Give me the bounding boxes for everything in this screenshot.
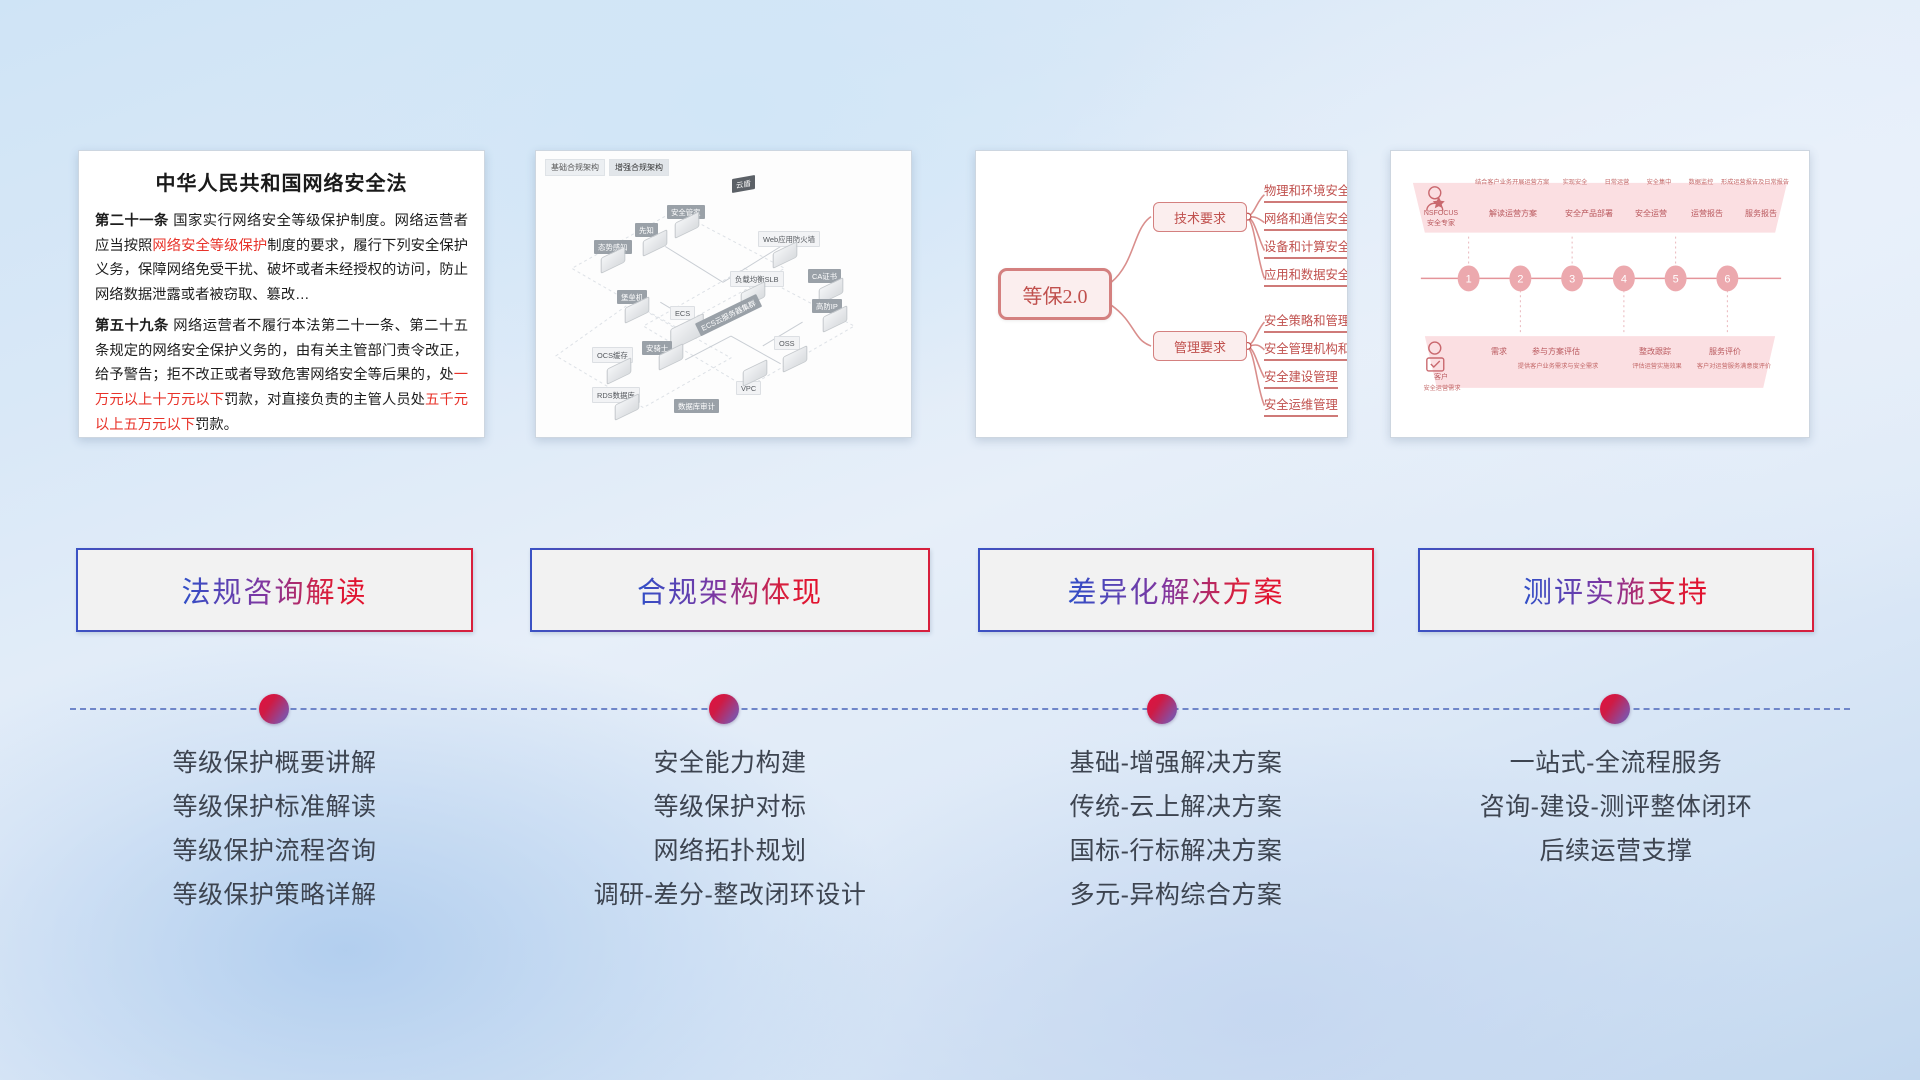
role-sub-customer-need: 安全运营需求: [1407, 385, 1477, 393]
svg-text:5: 5: [1673, 273, 1679, 285]
mindmap-leaf-ops-mgmt: 安全运维管理: [1264, 395, 1338, 417]
list-item: 咨询-建设-测评整体闭环: [1418, 786, 1814, 830]
service-flow-graphics: 1 2 3 4 5 6: [1391, 151, 1809, 438]
flow-sub-bottom-3: 客户对运营服务满意度评价: [1691, 363, 1777, 371]
section-items-column-2: 安全能力构建 等级保护对标 网络拓扑规划 调研-差分-整改闭环设计: [530, 742, 930, 918]
law-article-21-label: 第二十一条: [95, 213, 169, 229]
service-flow-diagram: 1 2 3 4 5 6 N: [1391, 151, 1809, 437]
list-item: 安全能力构建: [530, 742, 930, 786]
role-label-nsfocus-expert-top: NSFOCUS: [1413, 209, 1469, 218]
mindmap-root-node[interactable]: 等保2.0: [998, 268, 1112, 320]
list-item: 国标-行标解决方案: [978, 830, 1374, 874]
law-article-21-highlight: 网络安全等级保护: [152, 238, 267, 254]
flow-sub-top-5: 形成运营报告及日常报告: [1721, 179, 1787, 187]
law-article-59-text-b: 罚款，对直接负责的主管人员处: [224, 392, 425, 408]
timeline-dot-3[interactable]: [1147, 694, 1177, 724]
svg-text:2: 2: [1517, 273, 1523, 285]
law-article-59-label: 第五十九条: [95, 318, 169, 334]
section-header-box-1[interactable]: 法规咨询解读: [76, 548, 473, 632]
list-item: 等级保护流程咨询: [76, 830, 473, 874]
flow-sub-top-0: 结合客户业务开展运营方案: [1475, 179, 1549, 187]
flow-step-bottom-2: 整改跟踪: [1627, 347, 1683, 358]
flow-step-top-2: 安全运营: [1625, 209, 1677, 220]
list-item: 后续运营支撑: [1418, 830, 1814, 874]
card-law-document[interactable]: 中华人民共和国网络安全法 第二十一条 国家实行网络安全等级保护制度。网络运营者应…: [78, 150, 485, 438]
list-item: 网络拓扑规划: [530, 830, 930, 874]
list-item: 基础-增强解决方案: [978, 742, 1374, 786]
card-cloud-architecture[interactable]: 基础合规架构 增强合规架构: [535, 150, 912, 438]
flow-step-top-0: 解读运营方案: [1475, 209, 1551, 220]
mindmap-leaf-org-personnel: 安全管理机构和人员: [1264, 339, 1348, 361]
section-items-column-4: 一站式-全流程服务 咨询-建设-测评整体闭环 后续运营支撑: [1418, 742, 1814, 874]
svg-text:4: 4: [1621, 273, 1627, 285]
flow-sub-top-2: 日常运营: [1597, 179, 1637, 187]
mindmap-leaf-policy-system: 安全策略和管理制度: [1264, 311, 1348, 333]
slide-canvas: 中华人民共和国网络安全法 第二十一条 国家实行网络安全等级保护制度。网络运营者应…: [0, 0, 1920, 1080]
role-label-nsfocus-expert-bottom: 安全专家: [1413, 219, 1469, 228]
list-item: 多元-异构综合方案: [978, 874, 1374, 918]
list-item: 一站式-全流程服务: [1418, 742, 1814, 786]
flow-step-top-3: 运营报告: [1681, 209, 1733, 220]
flow-step-top-4: 服务报告: [1735, 209, 1787, 220]
section-header-box-3[interactable]: 差异化解决方案: [978, 548, 1374, 632]
timeline-dashed-line: [70, 708, 1850, 710]
law-title: 中华人民共和国网络安全法: [95, 167, 468, 196]
section-header-box-4[interactable]: 测评实施支持: [1418, 548, 1814, 632]
law-document-body: 中华人民共和国网络安全法 第二十一条 国家实行网络安全等级保护制度。网络运营者应…: [79, 151, 484, 437]
role-label-customer: 客户: [1413, 373, 1469, 382]
list-item: 传统-云上解决方案: [978, 786, 1374, 830]
timeline-dot-2[interactable]: [709, 694, 739, 724]
timeline-dot-4[interactable]: [1600, 694, 1630, 724]
mindmap-branch-management[interactable]: 管理要求: [1153, 331, 1247, 361]
mindmap-leaf-device-compute: 设备和计算安全: [1264, 237, 1348, 259]
list-item: 调研-差分-整改闭环设计: [530, 874, 930, 918]
mindmap-branch-technical[interactable]: 技术要求: [1153, 202, 1247, 232]
flow-step-top-1: 安全产品部署: [1559, 209, 1619, 220]
svg-text:6: 6: [1724, 273, 1730, 285]
flow-step-bottom-0: 需求: [1477, 347, 1521, 358]
list-item: 等级保护标准解读: [76, 786, 473, 830]
section-header-box-2[interactable]: 合规架构体现: [530, 548, 930, 632]
flow-step-bottom-1: 参与方案评估: [1523, 347, 1589, 358]
preview-card-row: 中华人民共和国网络安全法 第二十一条 国家实行网络安全等级保护制度。网络运营者应…: [0, 150, 1920, 440]
node-label-db-audit: 数据库审计: [674, 399, 719, 413]
flow-step-bottom-3: 服务评价: [1697, 347, 1753, 358]
flow-sub-top-3: 安全集中: [1639, 179, 1679, 187]
law-article-59: 第五十九条 网络运营者不履行本法第二十一条、第二十五条规定的网络安全保护义务的，…: [95, 314, 468, 437]
architecture-diagram: 基础合规架构 增强合规架构: [536, 151, 911, 437]
mindmap-leaf-app-data: 应用和数据安全: [1264, 265, 1348, 287]
mindmap-leaf-construction-mgmt: 安全建设管理: [1264, 367, 1338, 389]
flow-sub-bottom-1: 提供客户业务需求与安全需求: [1515, 363, 1601, 371]
section-header-label-1: 法规咨询解读: [181, 569, 367, 611]
node-label-oss: OSS: [774, 336, 800, 350]
section-header-label-3: 差异化解决方案: [1067, 569, 1284, 611]
timeline: [0, 694, 1920, 724]
section-items-row: 等级保护概要讲解 等级保护标准解读 等级保护流程咨询 等级保护策略详解 安全能力…: [0, 742, 1920, 942]
mindmap-leaf-physical-env: 物理和环境安全: [1264, 181, 1348, 203]
list-item: 等级保护对标: [530, 786, 930, 830]
section-header-row: 法规咨询解读 合规架构体现 差异化解决方案 测评实施支持: [0, 548, 1920, 640]
flow-sub-bottom-2: 评估运营实施效果: [1619, 363, 1695, 371]
law-article-21: 第二十一条 国家实行网络安全等级保护制度。网络运营者应当按照网络安全等级保护制度…: [95, 209, 468, 307]
mindmap-leaf-network-comm: 网络和通信安全: [1264, 209, 1348, 231]
mindmap-diagram: 等保2.0 技术要求 物理和环境安全 网络和通信安全 设备和计算安全 应用和数据…: [976, 151, 1347, 437]
list-item: 等级保护策略详解: [76, 874, 473, 918]
section-header-label-4: 测评实施支持: [1523, 569, 1709, 611]
flow-sub-top-4: 数据监控: [1681, 179, 1721, 187]
section-header-label-2: 合规架构体现: [637, 569, 823, 611]
law-article-59-text-c: 罚款。: [195, 417, 238, 433]
list-item: 等级保护概要讲解: [76, 742, 473, 786]
section-items-column-1: 等级保护概要讲解 等级保护标准解读 等级保护流程咨询 等级保护策略详解: [76, 742, 473, 918]
card-service-flow[interactable]: 1 2 3 4 5 6 N: [1390, 150, 1810, 438]
timeline-dot-1[interactable]: [259, 694, 289, 724]
svg-text:3: 3: [1569, 273, 1575, 285]
section-items-column-3: 基础-增强解决方案 传统-云上解决方案 国标-行标解决方案 多元-异构综合方案: [978, 742, 1374, 918]
card-mindmap-dengbao[interactable]: 等保2.0 技术要求 物理和环境安全 网络和通信安全 设备和计算安全 应用和数据…: [975, 150, 1348, 438]
flow-sub-top-1: 实现安全: [1555, 179, 1595, 187]
svg-text:1: 1: [1466, 273, 1472, 285]
